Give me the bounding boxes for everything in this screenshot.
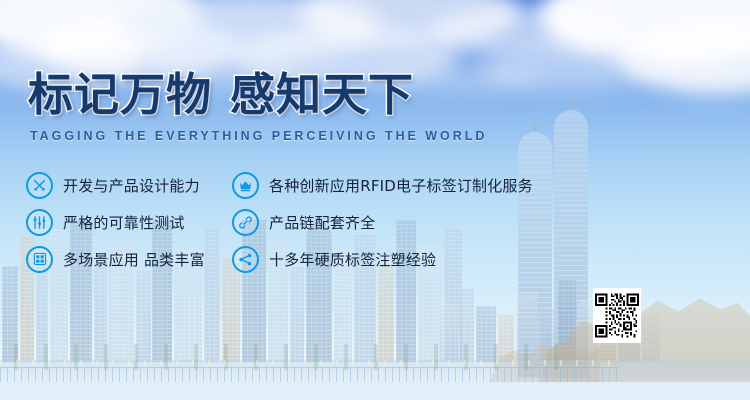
feature-item-scenarios: 多场景应用 品类丰富	[26, 244, 205, 274]
share-icon	[232, 246, 259, 273]
feature-item-development: 开发与产品设计能力	[26, 170, 205, 200]
feature-item-moulding-experience: 十多年硬质标签注塑经验	[232, 244, 533, 274]
feature-label: 产品链配套齐全	[269, 212, 375, 233]
headline-part-2: 感知天下	[230, 69, 414, 120]
feature-item-reliability: 严格的可靠性测试	[26, 207, 205, 237]
headline-part-1: 标记万物	[28, 69, 212, 120]
feature-list-left: 开发与产品设计能力 严格的可靠性测试	[26, 170, 205, 281]
page-subtitle: TAGGING THE EVERYTHING PERCEIVING THE WO…	[30, 128, 487, 143]
promenade-railing	[0, 367, 620, 382]
street-lights	[0, 360, 620, 366]
page-title: 标记万物感知天下	[28, 72, 414, 117]
feature-label: 十多年硬质标签注塑经验	[269, 249, 436, 270]
qr-code[interactable]	[593, 288, 641, 343]
feature-list-right: 各种创新应用RFID电子标签订制化服务 产品链配套齐全	[232, 170, 533, 281]
link-icon	[232, 209, 259, 236]
feature-label: 严格的可靠性测试	[63, 212, 185, 233]
grid-icon	[26, 246, 53, 273]
feature-label: 各种创新应用RFID电子标签订制化服务	[269, 175, 533, 196]
feature-label: 开发与产品设计能力	[63, 175, 200, 196]
promo-banner: 标记万物感知天下 TAGGING THE EVERYTHING PERCEIVI…	[0, 0, 750, 400]
feature-item-rfid-customisation: 各种创新应用RFID电子标签订制化服务	[232, 170, 533, 200]
sliders-icon	[26, 209, 53, 236]
qr-code-graphic	[595, 290, 639, 341]
crown-icon	[232, 172, 259, 199]
feature-item-product-chain: 产品链配套齐全	[232, 207, 533, 237]
feature-label: 多场景应用 品类丰富	[63, 249, 205, 270]
tools-icon	[26, 172, 53, 199]
